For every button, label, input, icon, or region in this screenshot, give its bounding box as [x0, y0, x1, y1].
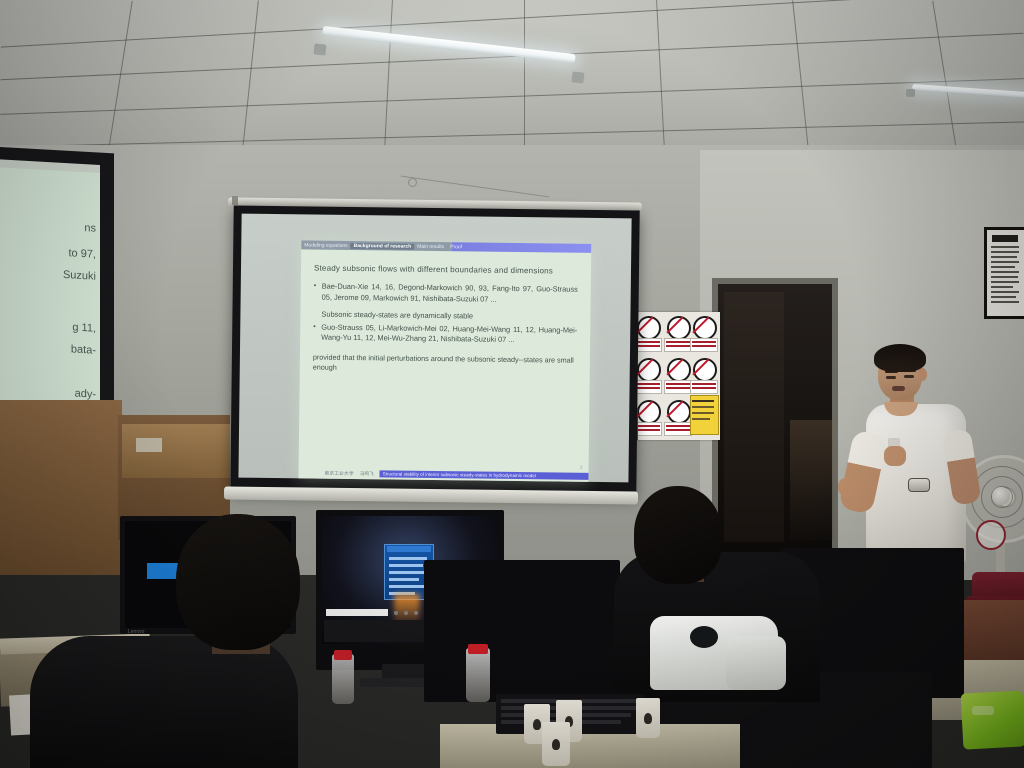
fan-brand-badge — [976, 520, 1006, 550]
framed-wall-notice — [984, 227, 1024, 319]
wood-cabinet-left — [0, 400, 122, 575]
ceiling-hook-icon — [408, 178, 417, 187]
slide-footer-presenter: 马鸣飞 — [354, 471, 374, 477]
presenter-mouth — [892, 386, 905, 391]
projected-slide: Modeling equations Background of researc… — [298, 240, 591, 482]
white-plastic-bag-secondary — [726, 636, 786, 690]
plastic-bag-handle-hole — [690, 626, 718, 648]
door-panel — [724, 292, 784, 542]
screen-surface: Modeling equations Background of researc… — [238, 214, 631, 483]
device-light-bar — [326, 609, 388, 616]
bullet-dot-icon: • — [314, 282, 322, 303]
audience-left-head — [176, 514, 300, 650]
bullet-dot-icon: • — [313, 322, 321, 343]
notice-title-block — [992, 235, 1018, 242]
left-frag-3: g 11, — [72, 321, 96, 334]
left-frag-0: ns — [84, 222, 96, 235]
ceiling-light-tube-main — [322, 26, 575, 63]
presenter-right-hand — [838, 478, 860, 496]
slide-title: Steady subsonic flows with different bou… — [314, 264, 578, 276]
bottle-cap-left — [334, 650, 352, 660]
dialog-title-bar — [387, 546, 431, 552]
bullet-1-text: Bae-Duan-Xie 14, 16, Degond-Markowich 90… — [322, 282, 578, 306]
audience-right-head — [634, 486, 722, 584]
slide-sub-note: Subsonic steady-states are dynamically s… — [321, 310, 577, 324]
water-bottle-left — [332, 654, 354, 704]
paper-cup — [636, 698, 660, 738]
safety-sign-board — [630, 312, 720, 440]
presenter-hair — [874, 344, 926, 372]
ceiling-light-tube-right — [912, 84, 1024, 98]
slide-bullet-2: • Guo-Strauss 05, Li-Markowich-Mei 02, H… — [313, 322, 577, 346]
tissue-pack-label — [972, 706, 994, 715]
fan-hub — [992, 487, 1010, 505]
slide-page-number: 2 — [580, 465, 583, 470]
projector-screen: Modeling equations Background of researc… — [230, 206, 639, 497]
cabinet-label — [136, 438, 162, 452]
screen-roller-bracket — [232, 196, 238, 205]
floor-right — [960, 600, 1024, 660]
nav-item-modeling-equations[interactable]: Modeling equations — [301, 242, 350, 249]
green-tissue-pack — [961, 690, 1024, 749]
left-frag-4: bata- — [71, 343, 96, 356]
nav-item-background-of-research[interactable]: Background of research — [351, 242, 415, 249]
nav-item-main-results[interactable]: Main results — [414, 243, 447, 249]
bottle-cap-center — [468, 644, 488, 654]
presenter-ear — [918, 368, 927, 381]
left-frag-5: ady- — [75, 388, 96, 401]
slide-footer: 南京工业大学 马鸣飞 Structural stability of inter… — [298, 467, 588, 482]
nav-item-proof[interactable]: Proof — [447, 244, 465, 250]
audience-person-left — [30, 636, 298, 768]
slide-footer-talk-title: Structural stability of interior subsoni… — [380, 470, 589, 480]
left-frag-1: to 97, — [68, 247, 96, 261]
wristwatch-icon — [908, 478, 930, 492]
monitor-brand-label: Lenovo — [128, 629, 144, 635]
ceiling — [0, 0, 1024, 150]
doorway-interior-glow — [790, 420, 834, 540]
bullet-2-text: Guo-Strauss 05, Li-Markowich-Mei 02, Hua… — [321, 322, 577, 346]
slide-body: Steady subsonic flows with different bou… — [299, 249, 592, 470]
slide-provided-text: provided that the initial perturbations … — [313, 352, 577, 376]
monitor-front — [424, 560, 620, 702]
left-frag-2: Suzuki — [63, 269, 96, 283]
slide-bullet-1: • Bae-Duan-Xie 14, 16, Degond-Markowich … — [314, 282, 578, 306]
lecture-room-photo: ns to 97, Suzuki g 11, bata- ady- -state… — [0, 0, 1024, 768]
presenter-left-hand — [884, 446, 906, 466]
paper-cup — [542, 722, 570, 766]
slide-footer-university: 南京工业大学 — [298, 470, 353, 477]
water-bottle-center — [466, 648, 490, 702]
